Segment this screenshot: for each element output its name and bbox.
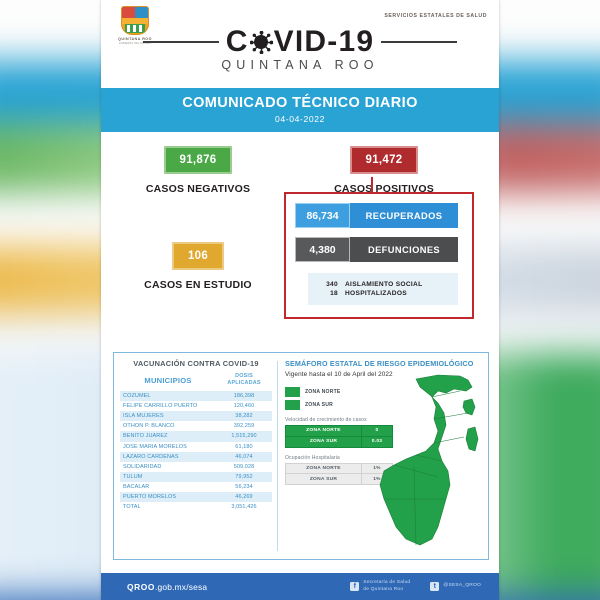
stat-casos-negativos: 91,876 CASOS NEGATIVOS [123, 146, 273, 195]
municipio-name: BACALAR [120, 482, 216, 492]
table-row: ISLA MUJERES38,282 [120, 411, 272, 421]
title-subtitle: QUINTANA ROO [101, 58, 499, 72]
table-row: OTHON P. BLANCO392,259 [120, 421, 272, 431]
table-row: FELIPE CARRILLO PUERTO120,460 [120, 401, 272, 411]
table-row: JOSE MARIA MORELOS61,180 [120, 442, 272, 452]
quintana-roo-map [376, 367, 484, 549]
dosis-aplicadas-value: 120,460 [216, 401, 272, 411]
col-dosis-line1: DOSIS [216, 373, 272, 380]
stat-casos-positivos: 91,472 CASOS POSITIVOS [309, 146, 459, 195]
title-text: VID-19 [274, 27, 375, 57]
website-brand: QROO [127, 582, 155, 592]
facebook-line1: Secretaría de Salud [363, 580, 410, 585]
casos-negativos-label: CASOS NEGATIVOS [123, 183, 273, 195]
positivos-breakdown-box: 86,734 RECUPERADOS 4,380 DEFUNCIONES 340… [284, 192, 474, 319]
municipio-name: SOLIDARIDAD [120, 462, 216, 472]
dosis-aplicadas-value: 46,074 [216, 452, 272, 462]
vacunacion-title: VACUNACIÓN CONTRA COVID-19 [120, 359, 272, 371]
poster-header: QUINTANA ROO GOBIERNO DEL ESTADO SERVICI… [101, 0, 499, 88]
facebook-icon: f [350, 582, 359, 591]
page-title: C [226, 27, 374, 57]
coronavirus-icon [250, 31, 273, 54]
twitter-link[interactable]: t @SESA_QROO [430, 582, 481, 591]
table-row: TULUM79,952 [120, 472, 272, 482]
legend-swatch-green-icon [285, 387, 300, 397]
dosis-aplicadas-value: 46,269 [216, 492, 272, 502]
municipio-name: TULUM [120, 472, 216, 482]
legend-label-zona-sur: ZONA SUR [305, 402, 333, 408]
municipio-name: JOSE MARIA MORELOS [120, 442, 216, 452]
dosis-aplicadas-value: 61,180 [216, 442, 272, 452]
table-row: LAZARO CARDENAS46,074 [120, 452, 272, 462]
legend-label-zona-norte: ZONA NORTE [305, 389, 341, 395]
recuperados-label: RECUPERADOS [350, 203, 458, 228]
hospitalizados-value: 18 [318, 290, 338, 297]
defunciones-label: DEFUNCIONES [350, 237, 458, 262]
legend-swatch-green-icon [285, 400, 300, 410]
facebook-label: Secretaría de Salud de Quintana Roo [363, 580, 410, 593]
municipio-name: ISLA MUJERES [120, 411, 216, 421]
dosis-aplicadas-value: 56,234 [216, 482, 272, 492]
dosis-aplicadas-value: 79,952 [216, 472, 272, 482]
municipio-name: FELIPE CARRILLO PUERTO [120, 401, 216, 411]
dosis-aplicadas-value: 38,282 [216, 411, 272, 421]
stats-section: 91,876 CASOS NEGATIVOS 91,472 CASOS POSI… [101, 132, 499, 342]
communique-date: 04-04-2022 [101, 114, 499, 124]
col-municipios: MUNICIPIOS [120, 371, 216, 391]
title-letter-c: C [226, 27, 249, 57]
recuperados-bar: 86,734 RECUPERADOS [295, 203, 458, 228]
municipio-name: BENITO JUAREZ [120, 431, 216, 441]
facebook-line2: de Quintana Roo [363, 587, 403, 592]
casos-positivos-value: 91,472 [350, 146, 419, 174]
dosis-aplicadas-value: 392,259 [216, 421, 272, 431]
table-row: PUERTO MORELOS46,269 [120, 492, 272, 502]
dosis-aplicadas-value: 3,051,426 [216, 502, 272, 512]
title-rule-left [143, 41, 219, 43]
casos-en-estudio-value: 106 [172, 242, 224, 270]
municipio-name: COZUMEL [120, 391, 216, 401]
connector-line [371, 177, 373, 193]
twitter-icon: t [430, 582, 439, 591]
table-row: SOLIDARIDAD509,028 [120, 462, 272, 472]
dosis-aplicadas-value: 509,028 [216, 462, 272, 472]
twitter-handle: @SESA_QROO [443, 583, 481, 590]
table-row: BENITO JUAREZ1,515,290 [120, 431, 272, 441]
col-dosis-line2: APLICADAS [216, 380, 272, 387]
vacunacion-table: MUNICIPIOS DOSIS APLICADAS COZUMEL186,39… [120, 371, 272, 512]
social-links: f Secretaría de Salud de Quintana Roo t … [350, 580, 481, 593]
municipio-name: PUERTO MORELOS [120, 492, 216, 502]
aislamiento-label: AISLAMIENTO SOCIAL [345, 281, 422, 288]
stat-casos-en-estudio: 106 CASOS EN ESTUDIO [123, 242, 273, 291]
covid-report-poster: QUINTANA ROO GOBIERNO DEL ESTADO SERVICI… [101, 0, 499, 600]
recuperados-value: 86,734 [295, 203, 350, 228]
title-rule-right [381, 41, 457, 43]
casos-en-estudio-label: CASOS EN ESTUDIO [123, 279, 273, 291]
table-row: BACALAR56,234 [120, 482, 272, 492]
agency-name: SERVICIOS ESTATALES DE SALUD [384, 13, 487, 19]
communique-title: COMUNICADO TÉCNICO DIARIO [101, 95, 499, 111]
website-path: .gob.mx/sesa [155, 582, 207, 592]
title-block: C [101, 27, 499, 72]
vacunacion-section: VACUNACIÓN CONTRA COVID-19 MUNICIPIOS DO… [114, 353, 277, 559]
dosis-aplicadas-value: 1,515,290 [216, 431, 272, 441]
table-row: TOTAL3,051,426 [120, 502, 272, 512]
screenshot-stage: QUINTANA ROO GOBIERNO DEL ESTADO SERVICI… [0, 0, 600, 600]
communique-band: COMUNICADO TÉCNICO DIARIO 04-04-2022 [101, 88, 499, 132]
velocidad-zona-norte-label: ZONA NORTE [286, 426, 362, 437]
dosis-aplicadas-value: 186,398 [216, 391, 272, 401]
table-row: COZUMEL186,398 [120, 391, 272, 401]
ocupacion-zona-norte-label: ZONA NORTE [286, 463, 362, 474]
poster-footer: QROO.gob.mx/sesa f Secretaría de Salud d… [101, 573, 499, 600]
aislamiento-row: 340 AISLAMIENTO SOCIAL [318, 281, 458, 288]
activos-detail-box: 340 AISLAMIENTO SOCIAL 18 HOSPITALIZADOS [308, 273, 458, 305]
website-url[interactable]: QROO.gob.mx/sesa [127, 582, 207, 592]
casos-negativos-value: 91,876 [164, 146, 233, 174]
velocidad-zona-sur-label: ZONA SUR [286, 436, 362, 447]
semaforo-section: SEMÁFORO ESTATAL DE RIESGO EPIDEMIOLÓGIC… [278, 353, 488, 559]
defunciones-bar: 4,380 DEFUNCIONES [295, 237, 458, 262]
bottom-panel: VACUNACIÓN CONTRA COVID-19 MUNICIPIOS DO… [113, 352, 489, 560]
municipio-name: OTHON P. BLANCO [120, 421, 216, 431]
hospitalizados-label: HOSPITALIZADOS [345, 290, 407, 297]
facebook-link[interactable]: f Secretaría de Salud de Quintana Roo [350, 580, 410, 593]
col-dosis-aplicadas: DOSIS APLICADAS [216, 371, 272, 391]
ocupacion-zona-sur-label: ZONA SUR [286, 474, 362, 485]
municipio-name: TOTAL [120, 502, 216, 512]
hospitalizados-row: 18 HOSPITALIZADOS [318, 290, 458, 297]
defunciones-value: 4,380 [295, 237, 350, 262]
municipio-name: LAZARO CARDENAS [120, 452, 216, 462]
aislamiento-value: 340 [318, 281, 338, 288]
